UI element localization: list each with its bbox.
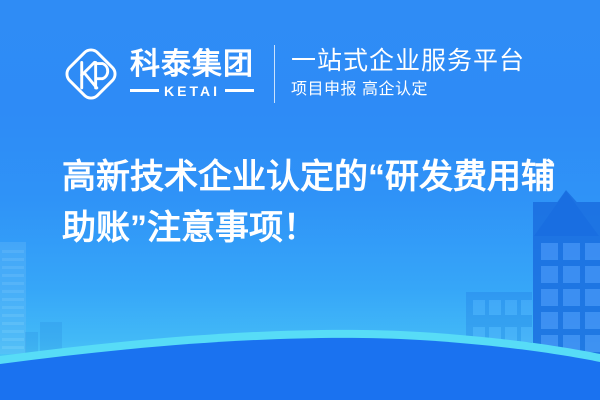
wordmark-dash-left	[130, 89, 159, 92]
banner-header: 科泰集团 KETAI 一站式企业服务平台 项目申报 高企认定	[62, 40, 525, 108]
brand-name-en: KETAI	[159, 83, 225, 99]
promo-banner: 科泰集团 KETAI 一站式企业服务平台 项目申报 高企认定 高新技术企业认定的…	[0, 0, 600, 400]
brand-wordmark: 科泰集团 KETAI	[130, 49, 254, 99]
slogan-main: 一站式企业服务平台	[291, 47, 525, 77]
ketai-diamond-kp-logo-icon	[62, 45, 120, 103]
header-slogan-group: 一站式企业服务平台 项目申报 高企认定	[291, 47, 525, 101]
slogan-sub: 项目申报 高企认定	[291, 79, 525, 101]
brand-logo[interactable]: 科泰集团 KETAI	[62, 45, 254, 103]
wordmark-dash-right	[225, 89, 254, 92]
brand-name-en-row: KETAI	[130, 83, 254, 99]
brand-name-cn: 科泰集团	[130, 49, 254, 81]
page-title: 高新技术企业认定的“研发费用辅助账”注意事项！	[62, 152, 562, 254]
header-divider	[274, 45, 275, 103]
